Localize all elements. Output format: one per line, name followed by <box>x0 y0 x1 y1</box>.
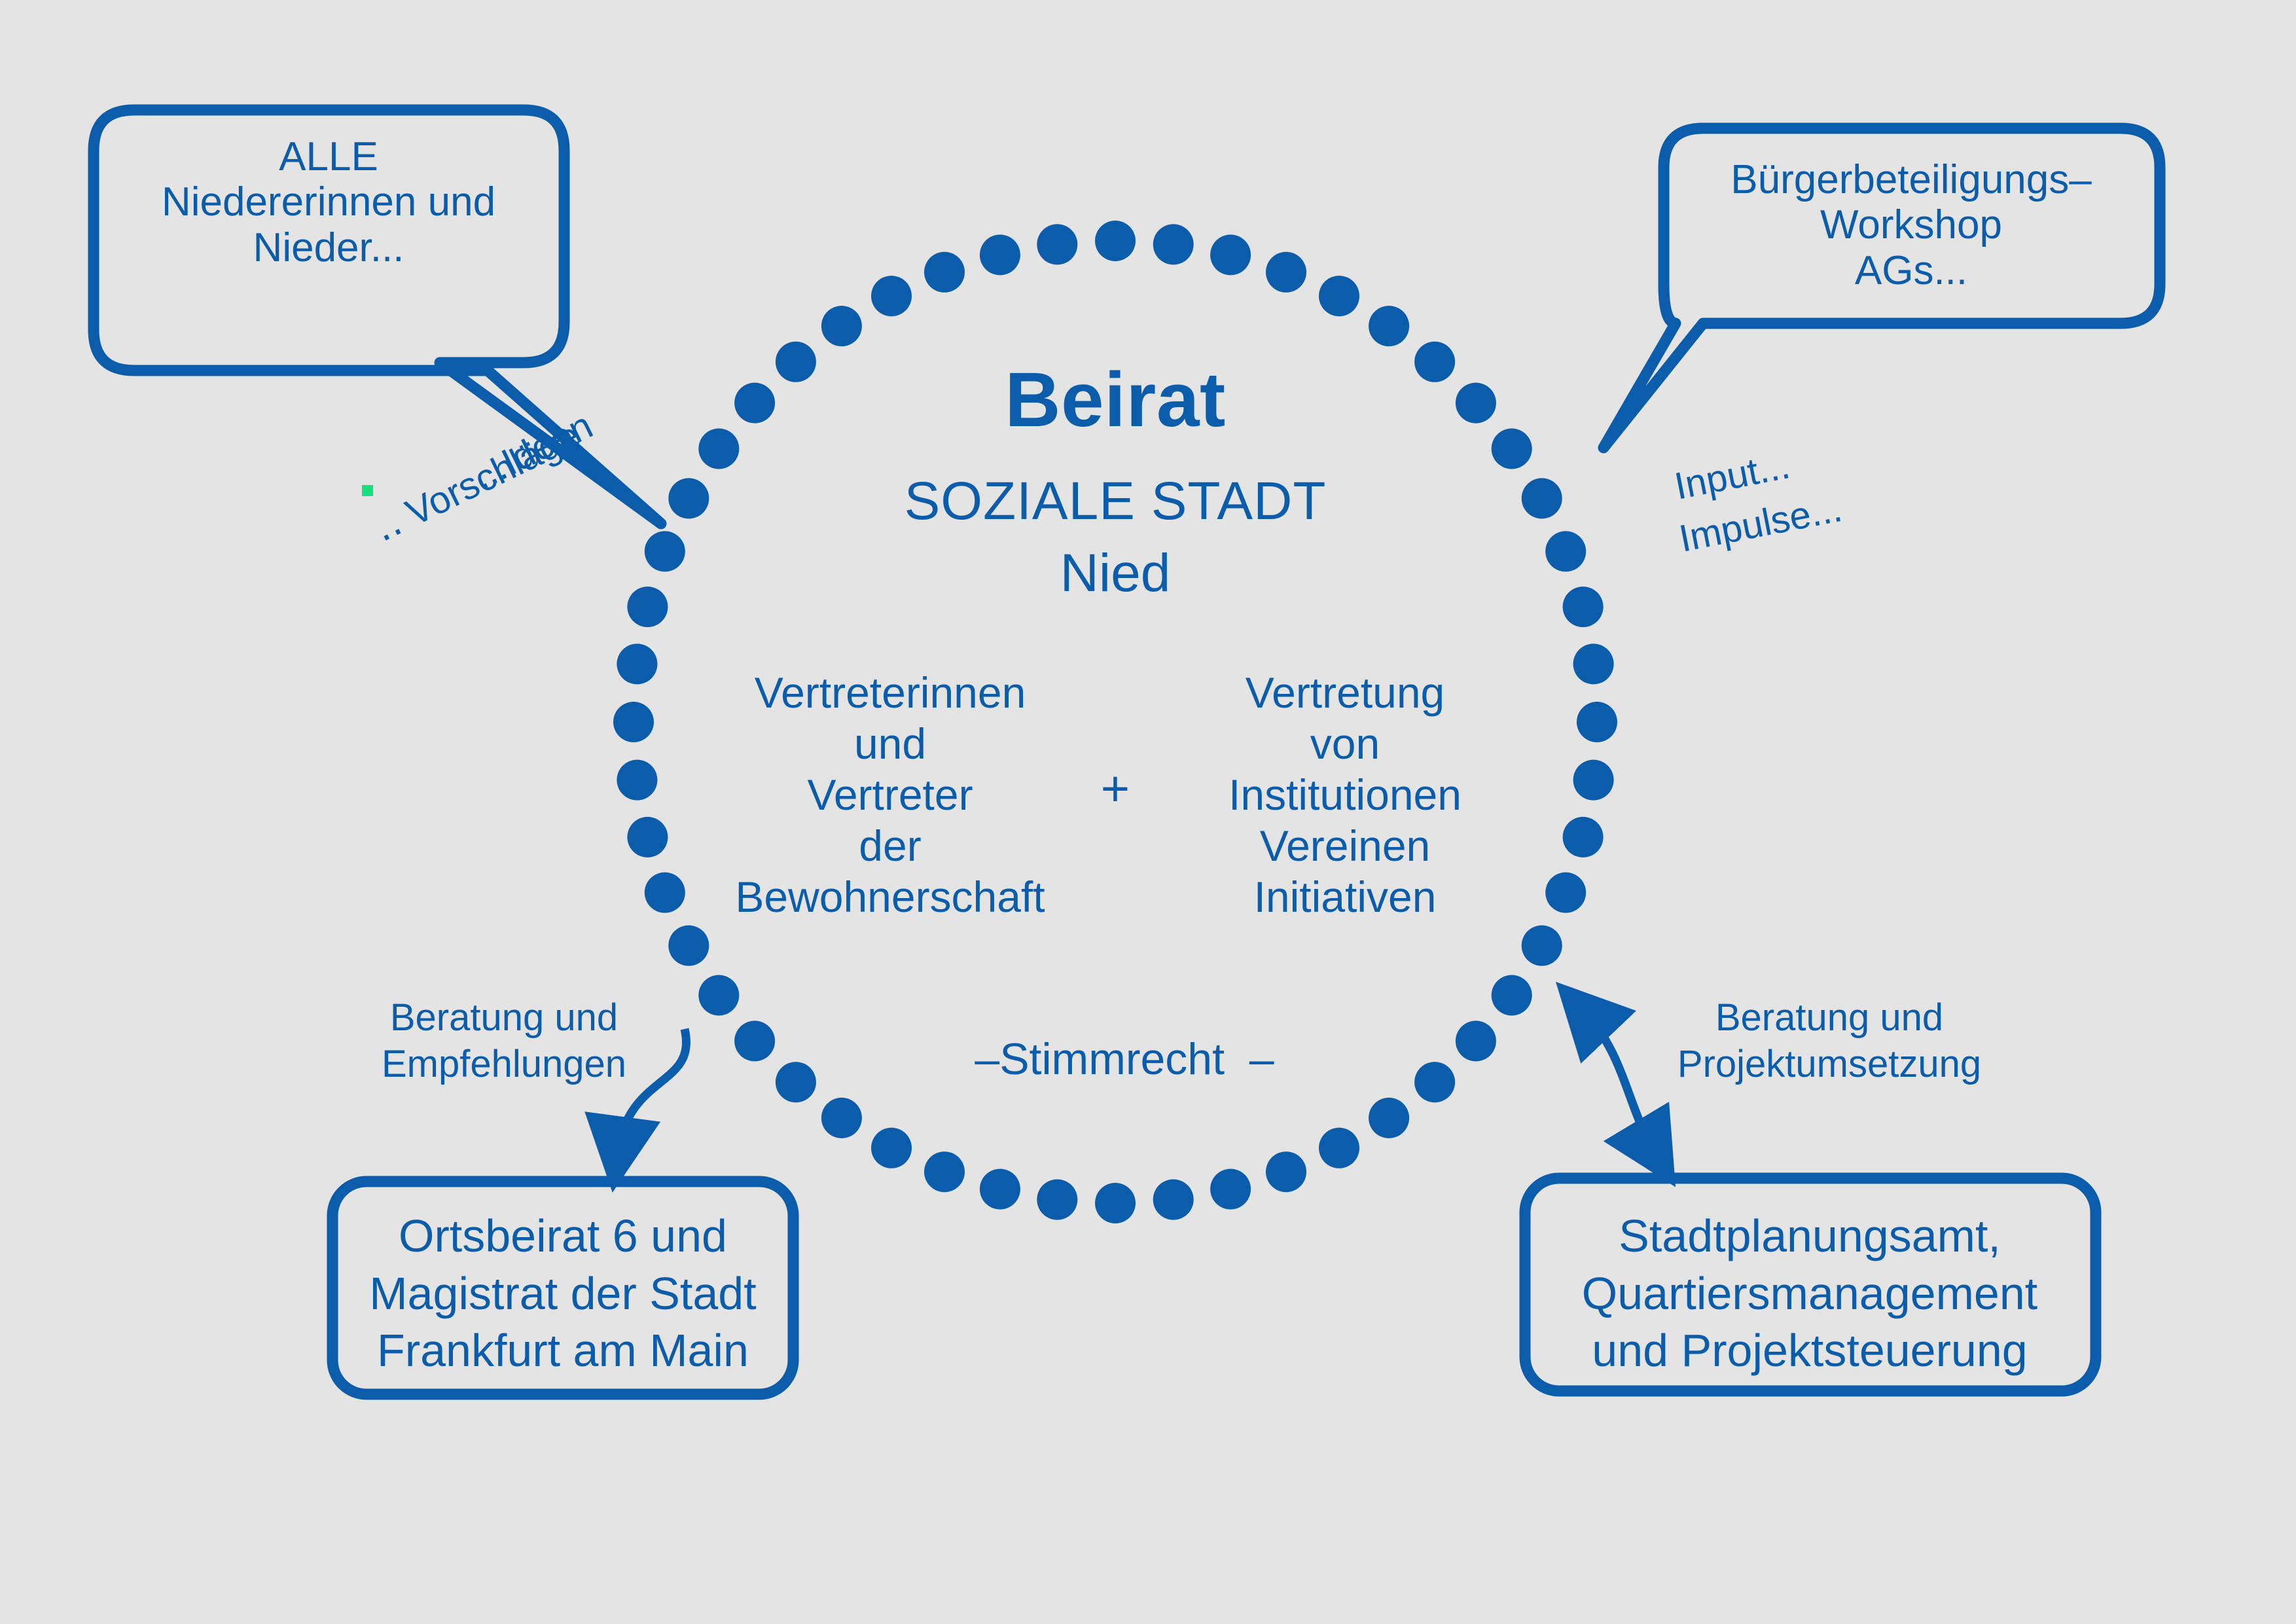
ring-dot <box>821 1098 862 1138</box>
ring-dot <box>1522 926 1562 966</box>
box-bottom-left-label: Ortsbeirat 6 und Magistrat der Stadt Fra… <box>369 1208 756 1380</box>
ring-dot <box>871 276 912 316</box>
ring-dot <box>1573 643 1614 684</box>
ring-dot <box>698 429 739 469</box>
ring-dot <box>1414 342 1455 382</box>
ring-dot <box>871 1128 912 1168</box>
ring-dot <box>1319 1128 1359 1168</box>
ring-dot <box>613 702 654 742</box>
ring-dot <box>1414 1062 1455 1102</box>
ring-dot <box>668 478 709 518</box>
ring-dot <box>1492 975 1532 1016</box>
ring-dot <box>924 252 965 293</box>
ring-dot <box>627 586 668 627</box>
ring-dot <box>776 1062 816 1102</box>
ring-dot <box>1456 1020 1496 1061</box>
ring-dot <box>645 873 685 913</box>
center-footnote-stimmrecht: –Stimmrecht – <box>975 1034 1274 1084</box>
ring-dot <box>1522 478 1562 518</box>
ring-dot <box>1369 1098 1409 1138</box>
ring-dot <box>1037 224 1077 264</box>
arrow-left-down <box>618 1029 687 1152</box>
ring-dot <box>1266 1151 1306 1192</box>
center-subtitle-line2: Nied <box>1060 543 1171 604</box>
ring-dot <box>1153 224 1194 264</box>
center-column-right: Vertretung von Institutionen Vereinen In… <box>1229 668 1462 922</box>
ring-dot <box>776 342 816 382</box>
ring-dot <box>1095 221 1136 261</box>
ring-dot <box>1563 586 1604 627</box>
ring-dot <box>924 1151 965 1192</box>
ring-dot <box>617 760 657 801</box>
ring-dot <box>1545 873 1586 913</box>
ring-dot <box>821 306 862 346</box>
ring-dot <box>1319 276 1359 316</box>
bubble-top-left-label: ALLE Niedererinnen und Nieder... <box>162 134 495 270</box>
ring-dot <box>1153 1180 1194 1220</box>
ring-dot <box>1573 760 1614 801</box>
ring-dot <box>1492 429 1532 469</box>
ring-dot <box>734 1020 775 1061</box>
ring-dot <box>698 975 739 1016</box>
ring-dot <box>645 531 685 571</box>
ring-dot <box>734 383 775 424</box>
ring-dot <box>1563 817 1604 857</box>
label-beratung-empfehlungen: Beratung und Empfehlungen <box>382 995 626 1088</box>
center-column-left: Vertreterinnen und Vertreter der Bewohne… <box>735 668 1045 922</box>
ring-dot <box>1095 1183 1136 1223</box>
green-marker-dot <box>362 485 373 496</box>
ring-dot <box>1577 702 1617 742</box>
ring-dot <box>668 926 709 966</box>
ring-dot <box>980 234 1020 275</box>
ring-dot <box>1037 1180 1077 1220</box>
ring-dot <box>1210 1169 1251 1210</box>
ring-dot <box>1456 383 1496 424</box>
label-beratung-projektumsetzung: Beratung und Projektumsetzung <box>1677 995 1981 1088</box>
ring-dot <box>617 643 657 684</box>
center-title: Beirat <box>1005 357 1225 443</box>
center-plus-sign: + <box>1101 761 1130 816</box>
box-bottom-right-label: Stadtplanungsamt, Quartiersmanagement un… <box>1582 1208 2037 1380</box>
ring-dot <box>1266 252 1306 293</box>
diagram-canvas: ALLE Niedererinnen und Nieder... Bürgerb… <box>0 0 2296 1624</box>
center-subtitle-line1: SOZIALE STADT <box>905 471 1327 532</box>
ring-dot <box>980 1169 1020 1210</box>
ring-dot <box>1545 531 1586 571</box>
arrow-right-double <box>1584 1011 1655 1152</box>
bubble-top-right-label: Bürgerbeteiligungs– Workshop AGs... <box>1731 157 2092 293</box>
ring-dot <box>627 817 668 857</box>
ring-dot <box>1369 306 1409 346</box>
ring-dot <box>1210 234 1251 275</box>
